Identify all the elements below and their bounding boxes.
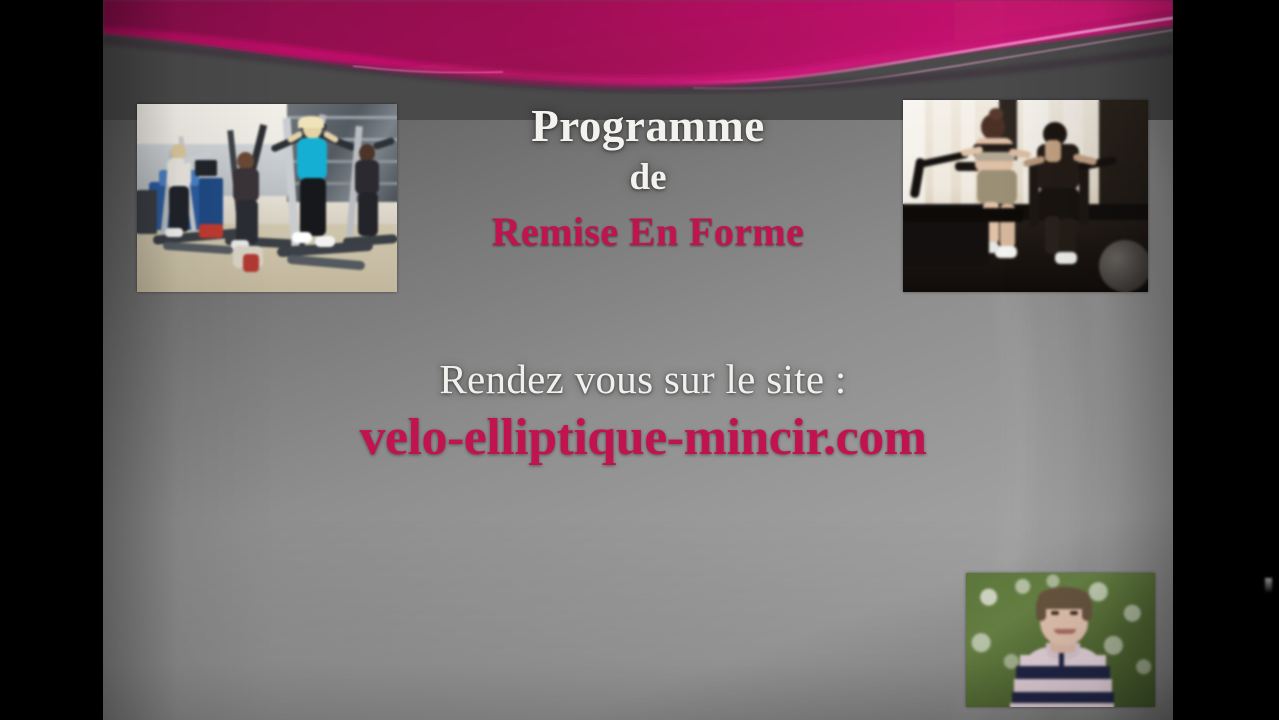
cta-lead-text: Rendez vous sur le site : bbox=[223, 352, 1063, 406]
gym-group-ellipticals-photo bbox=[137, 104, 397, 292]
headline-line-de: de bbox=[403, 152, 893, 204]
edge-light-artifact bbox=[1265, 578, 1272, 592]
slide-stage: Programme de Remise En Forme Rendez vous… bbox=[103, 0, 1173, 720]
headline-line-remise-en-forme: Remise En Forme bbox=[403, 204, 893, 260]
call-to-action-block: Rendez vous sur le site : velo-elliptiqu… bbox=[223, 352, 1063, 470]
letterbox-bar-left bbox=[0, 0, 103, 720]
headline-block: Programme de Remise En Forme bbox=[403, 100, 893, 260]
gym-couple-ellipticals-photo bbox=[903, 100, 1148, 292]
video-player-frame: Programme de Remise En Forme Rendez vous… bbox=[0, 0, 1279, 720]
website-url-text: velo-elliptique-mincir.com bbox=[223, 406, 1063, 470]
letterbox-bar-right bbox=[1173, 0, 1279, 720]
headline-line-programme: Programme bbox=[403, 100, 893, 152]
presenter-portrait-photo bbox=[966, 573, 1155, 707]
